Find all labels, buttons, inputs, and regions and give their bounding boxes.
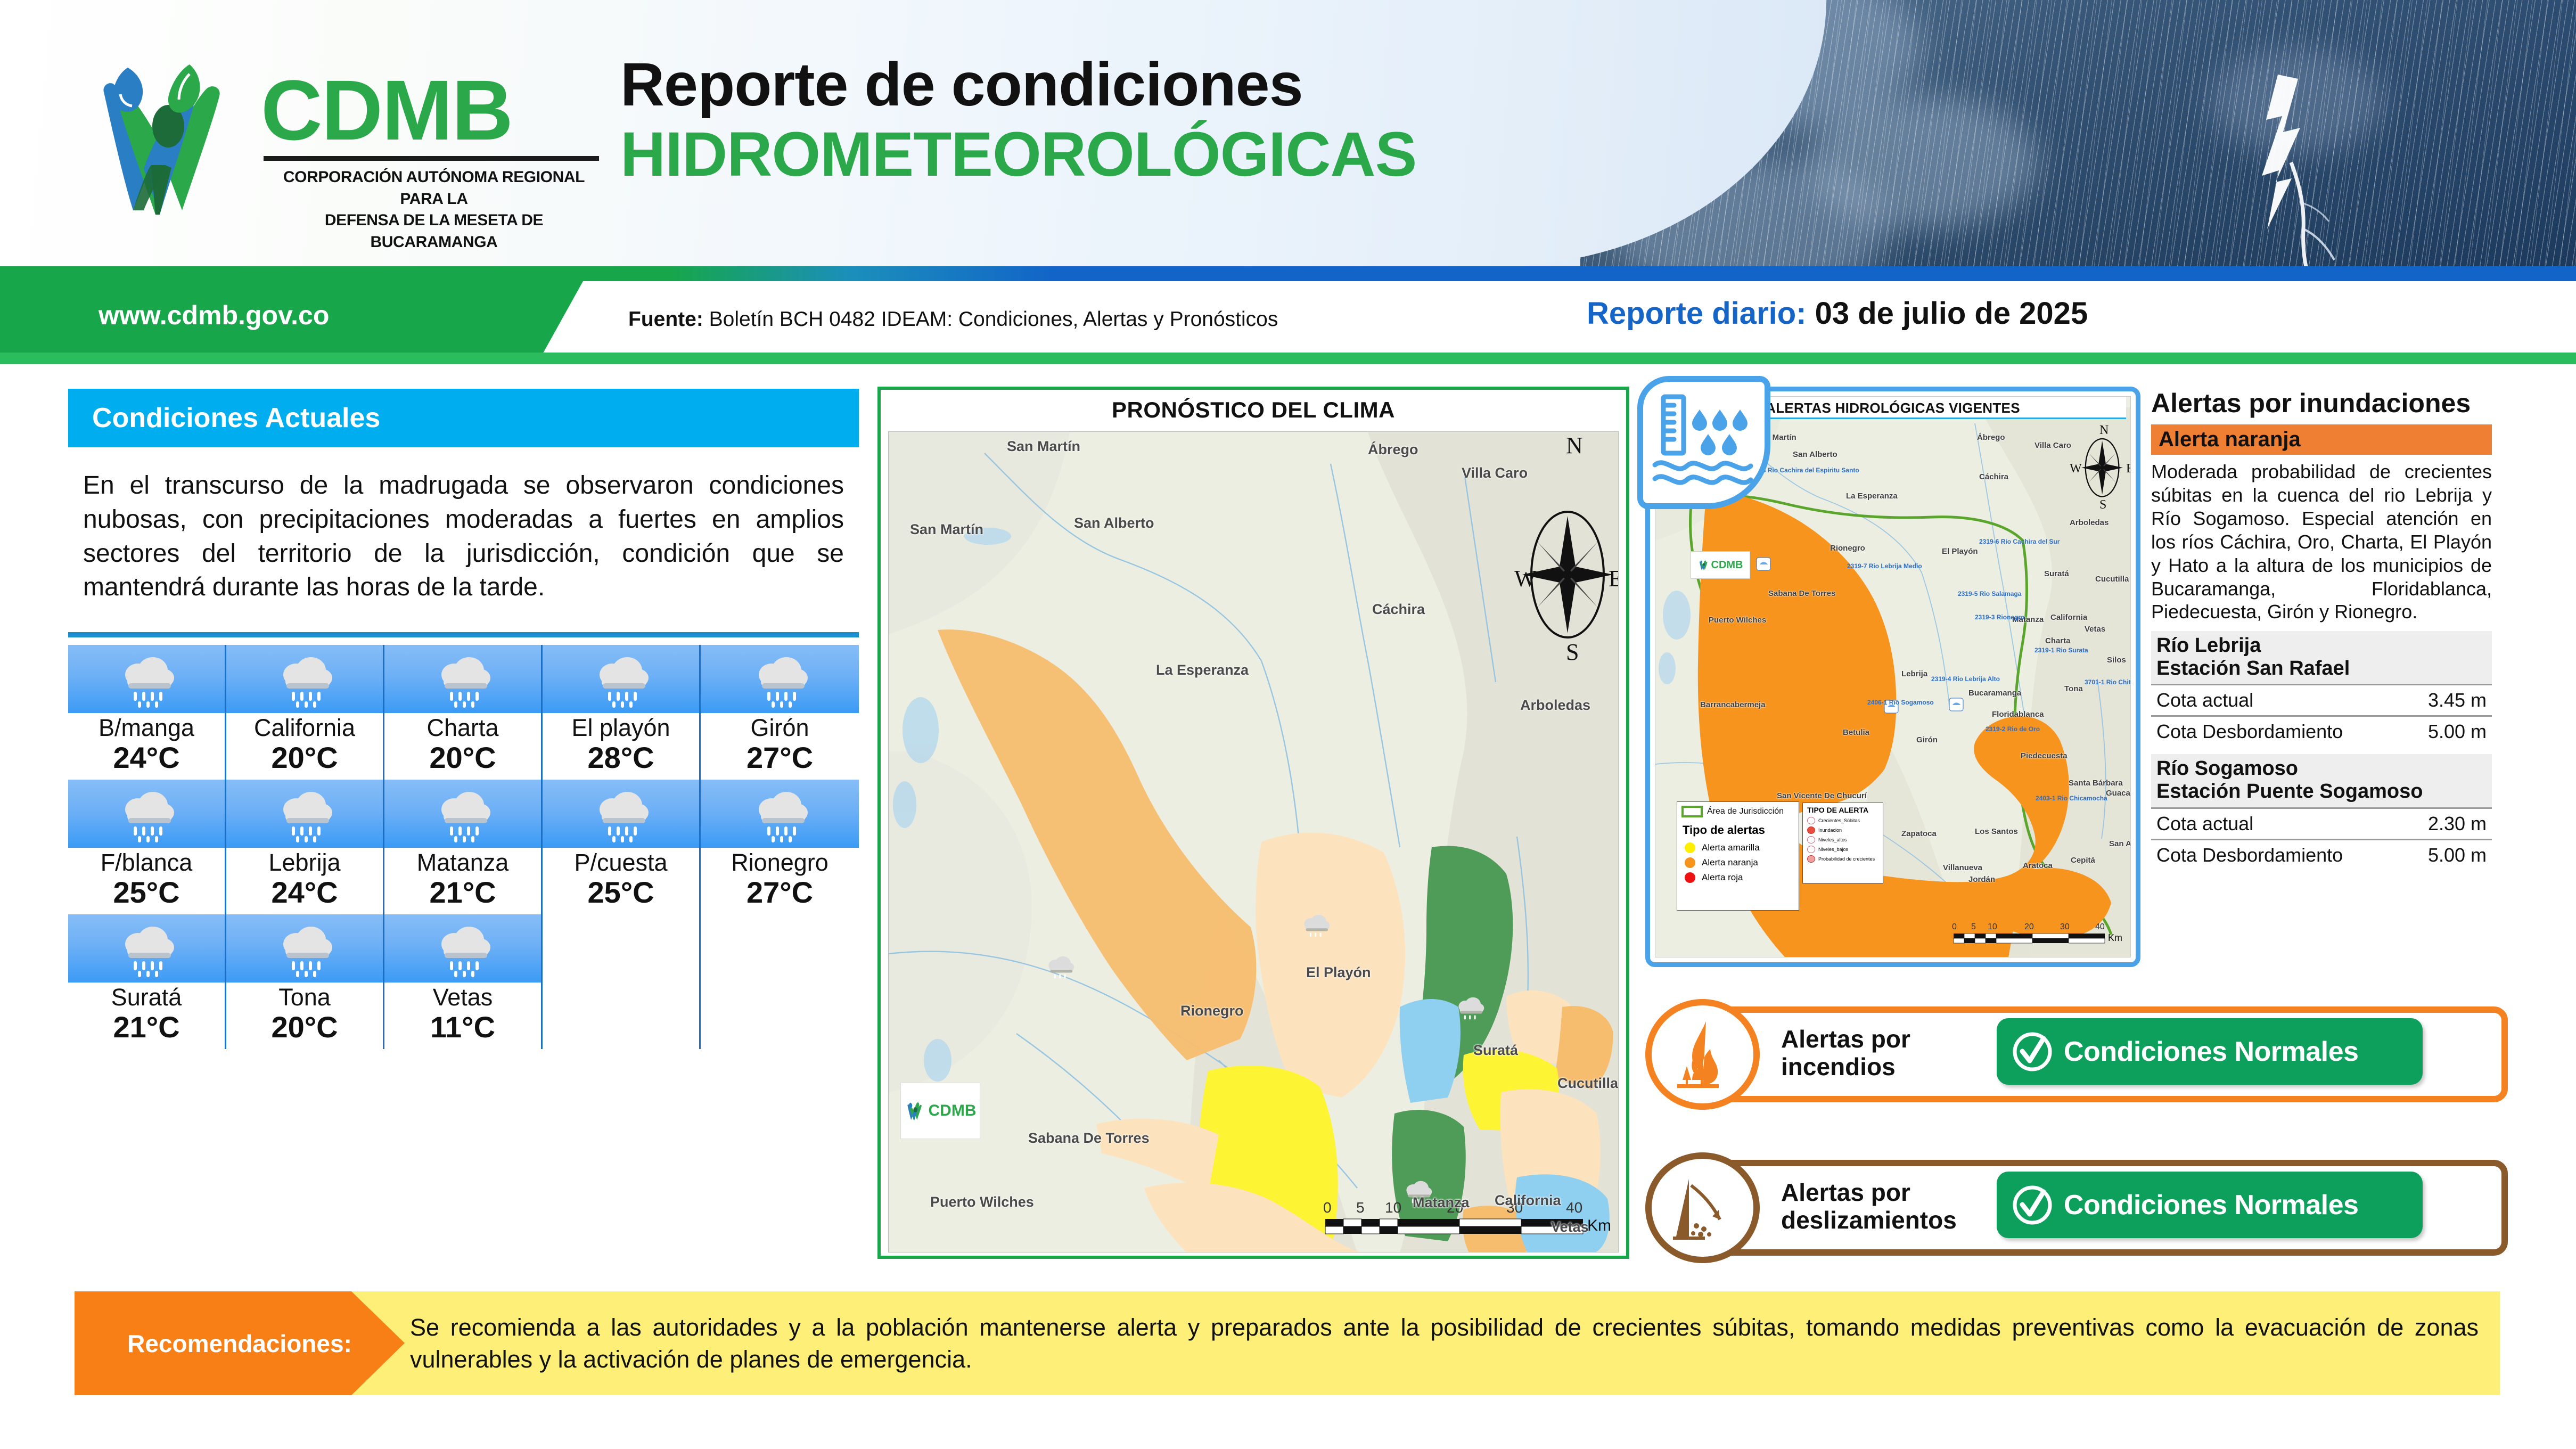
panel-divider [68,632,859,637]
recommendations-body: Se recomienda a las autoridades y a la p… [351,1291,2500,1395]
river-data-row: Cota actual 2.30 m [2151,809,2492,840]
alert-type-label: Probabilidad de crecientes [1818,856,1875,862]
svg-text:W: W [2070,462,2082,476]
check-circle-icon [2011,1030,2054,1074]
alert-type-title: TIPO DE ALERTA [1803,803,1883,816]
location-name: Lebrija [226,850,383,875]
temp-cell: B/manga24°C [68,713,226,780]
location-temperature: 24°C [68,741,225,775]
river-code-label: 2319-2 Rio de Oro [1986,726,2024,733]
hydro-map-label: Los Santos [1975,827,2018,836]
river-station-block: Río Sogamoso Estación Puente Sogamoso Co… [2151,754,2492,870]
temp-cell: Suratá21°C [68,983,226,1049]
rain-cloud-icon [226,645,383,713]
svg-text:20: 20 [2024,922,2034,931]
temp-cell: California20°C [226,713,384,780]
river-row-label: Cota Desbordamiento [2156,721,2343,743]
recommendations-text: Se recomienda a las autoridades y a la p… [410,1312,2479,1375]
temp-cell [384,914,543,983]
landslide-status-badge[interactable]: Condiciones Normales [1997,1172,2423,1238]
page-header: CDMB CORPORACIÓN AUTÓNOMA REGIONAL PARA … [0,0,2576,266]
hydro-map-label: Sabana De Torres [1768,590,1811,599]
svg-text:S: S [1566,639,1579,665]
location-temperature: 24°C [226,875,383,910]
alert-type-label: Crecientes_Súbitas [1818,818,1860,823]
legend-swatch-yellow [1685,842,1695,853]
location-name: Tona [226,985,383,1010]
rain-cloud-icon [384,914,541,983]
hydro-map-label: Lebrija [1901,669,1927,678]
svg-text:N: N [1566,432,1583,459]
river-row-value: 5.00 m [2428,721,2487,743]
temp-cell [226,780,384,848]
temperature-grid: B/manga24°C California20°C Charta20°C El… [68,645,859,1049]
temp-cell [226,645,384,713]
river-row-label: Cota actual [2156,689,2253,711]
hydro-map-label: Bucaramanga [1968,689,2021,698]
temp-cell: P/cuesta25°C [543,848,701,914]
landslide-alert-bar[interactable]: Alertas por deslizamientos Condiciones N… [1645,1160,2508,1256]
temp-cell-empty [543,983,701,1049]
fire-alert-label-line1: Alertas por [1781,1026,1910,1053]
river-code-label: 3701-1 Rio Chitaga [2085,679,2120,686]
location-name: Suratá [68,985,225,1010]
hydro-map-label: Cucutilla [2095,575,2129,584]
river-data-row: Cota actual 3.45 m [2151,685,2492,717]
title-line-1: Reporte de condiciones [620,51,1416,119]
svg-text:10: 10 [1385,1199,1401,1216]
map-label: San Alberto [1074,515,1154,531]
hydro-logo-text: CDMB [1711,559,1743,571]
location-name: Vetas [384,985,541,1010]
river-row-value: 5.00 m [2428,844,2487,866]
svg-text:5: 5 [1971,922,1976,931]
fire-status-badge[interactable]: Condiciones Normales [1997,1018,2423,1085]
map-cdmb-logo: CDMB [900,1083,980,1139]
hydro-map-cdmb-logo: CDMB [1691,551,1750,579]
temp-cell [543,645,701,713]
map-label: Rionegro [1180,1003,1244,1019]
rain-cloud-icon [701,645,859,713]
temp-cell [701,780,859,848]
legend-label: Alerta roja [1702,872,1743,883]
climate-map-title: PRONÓSTICO DEL CLIMA [881,390,1626,428]
location-temperature: 21°C [68,1010,225,1044]
temp-cell [68,780,226,848]
rain-cloud-icon [226,780,383,848]
current-conditions-panel: Condiciones Actuales En el transcurso de… [68,389,859,1211]
location-temperature: 25°C [68,875,225,910]
temp-cell-empty [701,914,859,983]
temp-cell: Matanza21°C [384,848,543,914]
river-row-label: Cota Desbordamiento [2156,844,2343,866]
location-temperature: 25°C [543,875,699,910]
source-value: Boletín BCH 0482 IDEAM: Condiciones, Ale… [709,308,1278,331]
station-name: Estación San Rafael [2156,657,2487,680]
temp-cell [384,645,543,713]
hydro-map-label: Cepitá [2071,856,2095,865]
temperature-row-labels-3: Suratá21°C Tona20°C Vetas11°C [68,983,859,1049]
svg-text:Km: Km [2108,932,2122,943]
svg-text:E: E [2126,462,2131,476]
report-date-value: 03 de julio de 2025 [1815,296,2088,331]
temp-cell: F/blanca25°C [68,848,226,914]
river-code-label: 2319-6 Rio Cachira del Sur [1979,538,2020,545]
map-logo-text: CDMB [929,1102,977,1120]
map-label: San Martín [910,521,983,538]
legend-swatch-red [1685,872,1695,883]
location-name: B/manga [68,715,225,740]
cdmb-logo-acronym: CDMB [261,61,512,159]
alert-type-legend: Área de Jurisdicción Tipo de alertas Ale… [1677,801,1799,911]
rain-cloud-icon [543,780,699,848]
temp-cell-empty [701,983,859,1049]
hydro-map-label: Jordán [1968,875,1995,884]
hydro-map-label: Arboledas [2070,518,2109,527]
jurisdiction-label: Área de Jurisdicción [1707,807,1784,816]
rain-cloud-icon [68,780,225,848]
river-code-label: 2319-5 Rio Salamaga [1958,591,1996,597]
hydro-map-label: Charta [2045,636,2071,645]
map-label: Ábrego [1368,441,1418,458]
alert-level-badge: Alerta naranja [2151,424,2492,455]
hydro-map-label: Suratá [2044,569,2069,578]
temp-cell: Lebrija24°C [226,848,384,914]
landslide-status-text: Condiciones Normales [2064,1189,2358,1221]
svg-text:10: 10 [1988,922,1997,931]
hydro-alert-marker [1949,698,1963,711]
legend-title: Tipo de alertas [1677,821,1799,840]
river-code-label: 2319-7 Rio Lebrija Medio [1847,563,1883,570]
temp-cell: Girón27°C [701,713,859,780]
hydro-map-label: Zapatoca [1901,829,1937,838]
cdmb-logo: CDMB CORPORACIÓN AUTÓNOMA REGIONAL PARA … [80,45,612,221]
legend-label: Alerta amarilla [1702,842,1760,853]
climate-map-canvas[interactable]: N S W E 0510 203040 [888,431,1619,1252]
svg-text:0: 0 [1323,1199,1332,1216]
rain-cloud-icon [384,780,541,848]
hydro-map-label: Villanueva [1943,863,1982,872]
flood-alerts-title: Alertas por inundaciones [2151,389,2492,418]
water-level-gauge-icon [1637,376,1770,509]
title-line-2: HIDROMETEOROLÓGICAS [620,119,1416,190]
hydro-map-label: Puerto Wilches [1709,616,1751,625]
river-code-label: 2319-3 Rionegro [1975,614,2011,621]
svg-text:30: 30 [2060,922,2070,931]
map-label: Puerto Wilches [930,1194,1010,1210]
location-name: Girón [701,715,859,740]
station-name: Estación Puente Sogamoso [2156,780,2487,803]
page-title: Reporte de condiciones HIDROMETEOROLÓGIC… [620,51,1416,190]
temperature-row-labels-2: F/blanca25°C Lebrija24°C Matanza21°C P/c… [68,848,859,914]
temp-cell [226,914,384,983]
hydro-map-label: Ábrego [1977,433,2005,442]
hydro-map-label: El Playón [1942,547,1978,556]
location-temperature: 28°C [543,741,699,775]
river-station-header: Río Sogamoso Estación Puente Sogamoso [2151,754,2492,808]
rain-cloud-icon [68,914,225,983]
current-conditions-heading: Condiciones Actuales [68,389,859,447]
temp-cell [384,780,543,848]
svg-text:40: 40 [2095,922,2105,931]
alert-symbol-legend: TIPO DE ALERTA Crecientes_Súbitas Inunda… [1802,803,1883,883]
hydro-map-label: San Andrés [2109,840,2131,849]
temp-cell: Rionegro27°C [701,848,859,914]
svg-text:5: 5 [1356,1199,1365,1216]
hydro-map-label: Rionegro [1830,544,1865,553]
location-name: Rionegro [701,850,859,875]
rain-cloud-icon [384,645,541,713]
flood-alerts-description: Moderada probabilidad de crecientes súbi… [2151,460,2492,624]
logo-subtitle-line2: DEFENSA DE LA MESETA DE BUCARAMANGA [264,210,604,253]
hydro-map-label: Aratoca [2023,861,2053,870]
map-label: San Martín [1007,438,1080,455]
source-text: Fuente: Boletín BCH 0482 IDEAM: Condicio… [628,308,1278,331]
temperature-row-labels-1: B/manga24°C California20°C Charta20°C El… [68,713,859,780]
svg-text:Km: Km [1587,1217,1611,1234]
map-label: California [1495,1192,1561,1209]
river-code-label: 2406-1 Rio Sogamoso [1867,699,1906,706]
location-name: El playón [543,715,699,740]
svg-text:N: N [2099,423,2109,437]
hydro-map-label: Girón [1916,735,1938,744]
hydro-map-label: San Vicente De Chucurí [1777,792,1830,801]
hydro-map-label: Barrancabermeja [1700,700,1766,709]
alert-type-label: Niveles_altos [1818,837,1847,842]
hydro-map-label: San Alberto [1793,450,1837,459]
river-name: Río Lebrija [2156,634,2487,657]
jurisdiction-swatch [1681,806,1703,817]
fire-icon [1645,999,1760,1110]
location-temperature: 20°C [226,741,383,775]
river-name: Río Sogamoso [2156,757,2487,780]
temp-cell [543,780,701,848]
map-label: Suratá [1473,1042,1518,1059]
recommendations-tag-label: Recomendaciones: [127,1329,352,1358]
report-date-label: Reporte diario: [1587,296,1807,331]
fire-alert-label-line2: incendios [1781,1053,1910,1081]
map-label: Cáchira [1372,601,1425,618]
temp-cell: Charta20°C [384,713,543,780]
hydro-map-label: Floridablanca [1992,710,2044,719]
check-circle-icon [2011,1183,2054,1227]
hydro-map-label: Villa Caro [2034,441,2066,451]
legend-label: Alerta naranja [1702,857,1758,868]
recommendations-tag: Recomendaciones: [75,1291,405,1395]
landslide-alert-label-line1: Alertas por [1781,1179,1957,1207]
map-label: La Esperanza [1156,662,1249,678]
map-label: Villa Caro [1462,465,1528,481]
temp-cell [68,645,226,713]
river-data-row: Cota Desbordamiento 5.00 m [2151,840,2492,870]
river-station-block: Río Lebrija Estación San Rafael Cota act… [2151,631,2492,747]
river-data-row: Cota Desbordamiento 5.00 m [2151,717,2492,747]
svg-text:W: W [1514,566,1537,592]
temp-cell: Tona20°C [226,983,384,1049]
rain-cloud-icon [543,645,699,713]
svg-text:S: S [2099,498,2106,512]
logo-divider [264,156,599,161]
river-station-header: Río Lebrija Estación San Rafael [2151,631,2492,685]
location-temperature: 27°C [701,875,859,910]
location-name: Charta [384,715,541,740]
alert-type-label: Inundacion [1818,828,1842,833]
landslide-alert-label-line2: deslizamientos [1781,1207,1957,1234]
location-temperature: 20°C [226,1010,383,1044]
landslide-alert-label: Alertas por deslizamientos [1781,1179,1957,1234]
hydro-map-label: Vetas [2085,625,2105,634]
rain-cloud-icon [68,645,225,713]
temp-cell [68,914,226,983]
map-label: Arboledas [1520,697,1590,714]
hydro-map-label: Guaca [2106,789,2130,798]
svg-text:0: 0 [1952,922,1957,931]
location-temperature: 27°C [701,741,859,775]
hydro-map-label: Silos [2107,656,2126,665]
cdmb-logo-subtitle: CORPORACIÓN AUTÓNOMA REGIONAL PARA LA DE… [264,167,604,253]
fire-alert-bar[interactable]: Alertas por incendios Condiciones Normal… [1645,1006,2508,1102]
cdmb-logo-mark [80,51,256,221]
hydro-map-label: Tona [2064,684,2083,693]
climate-forecast-map[interactable]: PRONÓSTICO DEL CLIMA [877,387,1629,1259]
temperature-row-icons-1 [68,645,859,713]
temp-cell: Vetas11°C [384,983,543,1049]
temp-cell [701,645,859,713]
report-date-block: Reporte diario: 03 de julio de 2025 [1587,296,2088,331]
temp-cell-empty [543,914,701,983]
location-temperature: 21°C [384,875,541,910]
location-name: Matanza [384,850,541,875]
svg-text:E: E [1609,566,1619,592]
location-name: P/cuesta [543,850,699,875]
current-conditions-text: En el transcurso de la madrugada se obse… [68,447,859,620]
location-name: California [226,715,383,740]
map-label: Cucutilla [1557,1075,1618,1092]
info-bar-underline [0,353,2576,364]
river-code-label: 2403-1 Rio Chicamocha [2036,795,2076,802]
temperature-row-icons-3 [68,914,859,983]
flood-alerts-panel: Alertas por inundaciones Alerta naranja … [2151,389,2492,967]
hydro-map-label: La Esperanza [1846,492,1898,501]
temp-cell: El playón28°C [543,713,701,780]
fire-status-text: Condiciones Normales [2064,1036,2358,1068]
recommendations-bar: Se recomienda a las autoridades y a la p… [75,1291,2500,1395]
hydro-map-label: Santa Bárbara [2069,779,2101,788]
hydro-map-label: Betulia [1843,728,1869,737]
river-row-value: 3.45 m [2428,689,2487,711]
hydro-map-label: California [2050,613,2087,622]
map-label: Vetas [1551,1219,1589,1235]
location-temperature: 20°C [384,741,541,775]
logo-subtitle-line1: CORPORACIÓN AUTÓNOMA REGIONAL PARA LA [264,167,604,210]
river-code-label: 2319-1 Rio Surata [2034,647,2070,654]
rain-cloud-icon [226,914,383,983]
location-name: F/blanca [68,850,225,875]
hydro-map-label: Cáchira [1979,472,2008,481]
legend-swatch-orange [1685,857,1695,868]
landslide-icon [1645,1152,1760,1263]
lightning-icon [2241,69,2390,266]
rain-cloud-icon [701,780,859,848]
river-row-label: Cota actual [2156,813,2253,835]
svg-text:40: 40 [1566,1199,1582,1216]
hydro-map-label: Piedecuesta [2021,751,2068,760]
temperature-row-icons-2 [68,780,859,848]
alert-type-label: Niveles_bajos [1818,847,1848,852]
map-label: El Playón [1306,964,1371,981]
source-label: Fuente: [628,308,703,331]
location-temperature: 11°C [384,1010,541,1044]
fire-alert-label: Alertas por incendios [1781,1026,1910,1080]
river-row-value: 2.30 m [2428,813,2487,835]
map-label: Matanza [1413,1194,1470,1211]
river-code-label: 2319-4 Rio Lebrija Alto [1931,676,1970,683]
hydro-alert-marker [1757,558,1770,570]
website-url[interactable]: www.cdmb.gov.co [99,300,329,331]
map-label: Sabana De Torres [1028,1131,1103,1147]
